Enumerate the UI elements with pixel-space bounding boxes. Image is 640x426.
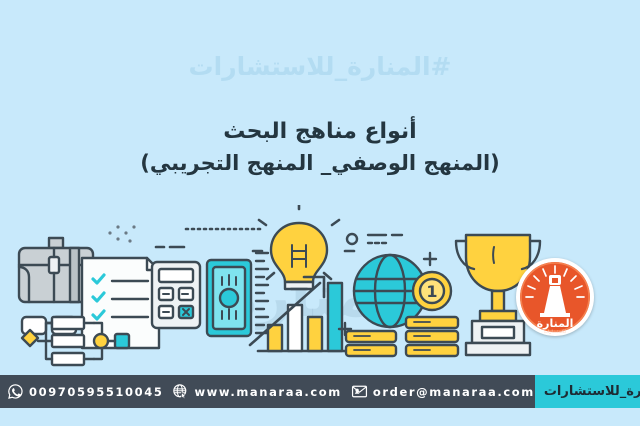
logo-sub-text: للاستشارات [544, 330, 566, 335]
title-line-1: أنواع مناهج البحث [0, 116, 640, 148]
envelope-icon [351, 383, 368, 400]
footer-hashtag-badge[interactable]: #المنارة_للاستشارات [535, 375, 640, 408]
dash-decoration [156, 229, 260, 247]
calculator-icon [152, 262, 200, 328]
footer-email-text: order@manaraa.com [373, 385, 535, 399]
footer-website-text: www.manaraa.com [194, 385, 341, 399]
poster-canvas: #المنارة_للاستشارات أنواع مناهج البحث (ا… [0, 0, 640, 426]
footer-email[interactable]: order@manaraa.com [342, 383, 535, 400]
watermark-top: #المنارة_للاستشارات [0, 52, 640, 81]
globe-cursor-icon [172, 383, 189, 400]
ruler-ticks [256, 253, 268, 333]
manaraa-lighthouse-logo: المنارة للاستشارات [516, 258, 594, 336]
whatsapp-icon [7, 383, 24, 400]
coin-value-label: 1 [426, 282, 437, 301]
page-title: أنواع مناهج البحث (المنهج الوصفي_ المنهج… [0, 116, 640, 178]
banknote-icon [207, 260, 251, 336]
footer-phone-text: 00970595510045 [29, 385, 163, 399]
dots-decoration [108, 225, 135, 242]
contact-footer-bar: 00970595510045 www.manaraa.com [0, 375, 640, 408]
logo-brand-text: المنارة [537, 317, 574, 330]
footer-website[interactable]: www.manaraa.com [163, 383, 341, 400]
title-line-2: (المنهج الوصفي_ المنهج التجريبي) [0, 148, 640, 178]
footer-phone[interactable]: 00970595510045 [0, 383, 163, 400]
